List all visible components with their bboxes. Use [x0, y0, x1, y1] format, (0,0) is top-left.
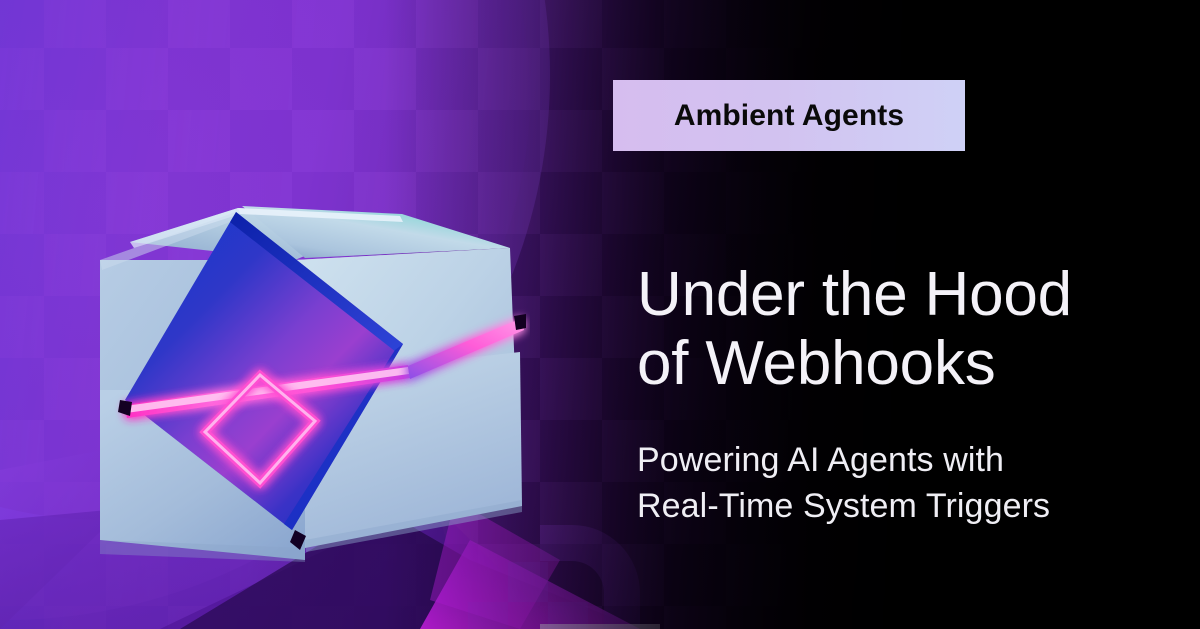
text-panel: Ambient Agents Under the Hood of Webhook…	[613, 0, 1173, 629]
cube-illustration	[90, 200, 530, 620]
category-badge: Ambient Agents	[613, 80, 965, 151]
page-title: Under the Hood of Webhooks	[637, 260, 1157, 399]
hero-graphic-cube	[90, 200, 530, 620]
poster-canvas: Ambient Agents Under the Hood of Webhook…	[0, 0, 1200, 629]
page-subtitle: Powering AI Agents with Real-Time System…	[637, 438, 1157, 530]
